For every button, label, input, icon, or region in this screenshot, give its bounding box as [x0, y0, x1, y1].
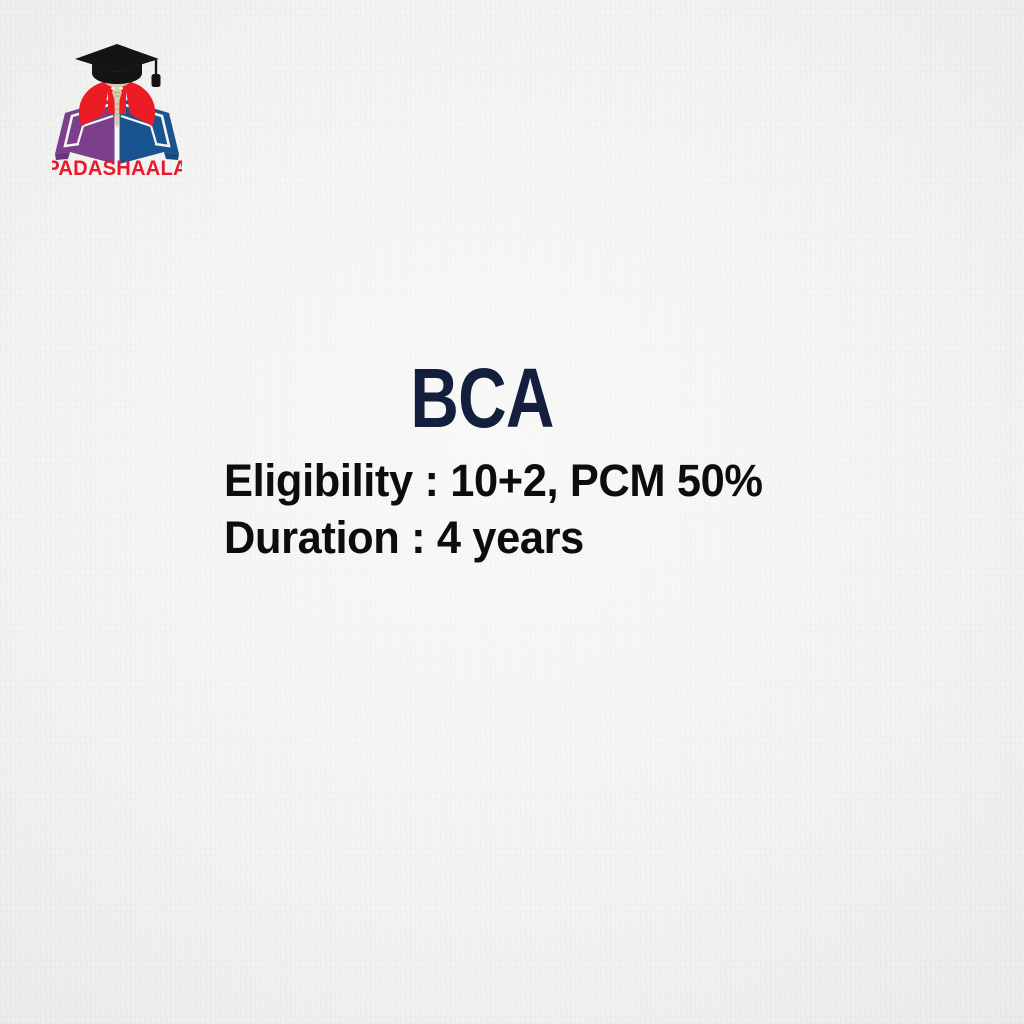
brand-logo: PADASHAALA: [52, 42, 182, 178]
cap-tassel-knot: [152, 74, 161, 87]
graduation-cap-icon: [75, 44, 161, 87]
poster-canvas: PADASHAALA BCA Eligibility : 10+2, PCM 5…: [0, 0, 1024, 1024]
course-title: BCA: [96, 355, 867, 441]
duration-text: Duration : 4 years: [224, 513, 584, 563]
eligibility-text: Eligibility : 10+2, PCM 50%: [224, 456, 763, 506]
brand-wordmark: PADASHAALA: [52, 157, 182, 178]
